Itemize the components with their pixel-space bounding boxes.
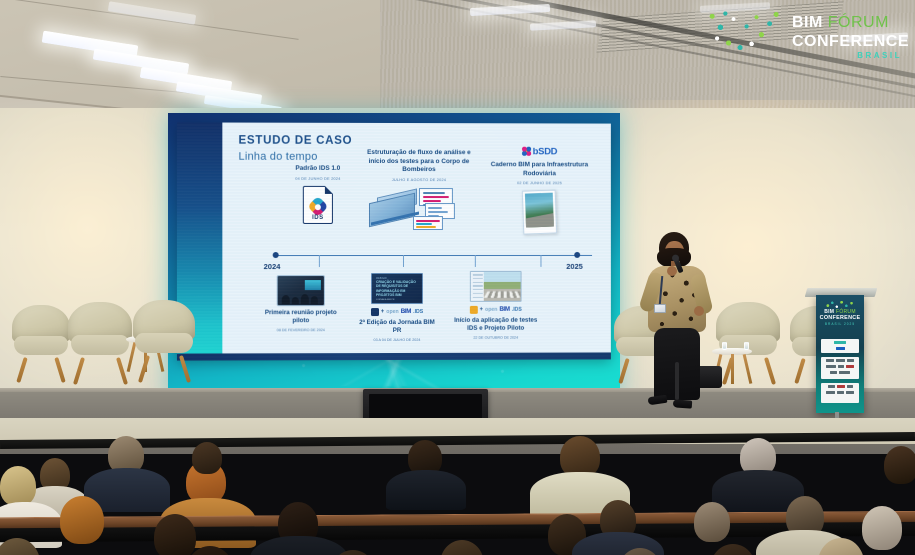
timeline-year-start: 2024 (264, 262, 281, 271)
logo-line-2: CONFERENCE (792, 33, 909, 51)
ids-openbim-combo: + openBIM.IDS (449, 305, 543, 314)
milestone-label: Padrão IDS 1.0 (275, 165, 361, 174)
sponsor-block-primary (821, 339, 859, 353)
logo-line-3: BRASIL (857, 51, 902, 60)
meeting-screen (305, 280, 321, 290)
podium-brand-line3: BRASIL 2025 (816, 322, 864, 326)
ids-label: IDS (304, 215, 332, 221)
speaker-hand-mic (667, 266, 677, 276)
chair-seat (71, 335, 130, 355)
openbim-word-light: open (485, 306, 497, 312)
sponsor-row (821, 345, 859, 351)
audience-area (0, 418, 915, 555)
podium-brand-block: BIM FÓRUM CONFERENCE BRASIL 2025 (816, 309, 864, 326)
bim-forum-conference-logo: BIM FÓRUM CONFERENCE BRASIL (700, 6, 910, 58)
milestone-above-1: Padrão IDS 1.0 04 DE JUNHO DE 2024 IDS (275, 165, 361, 224)
slide-bottom-bar (177, 352, 611, 360)
deck-cover-card: WEBINAR CRIAÇÃO E VALIDAÇÃO DE REQUISITO… (371, 273, 423, 304)
audience-head (0, 466, 36, 506)
bsdd-wordmark: bSDD (533, 146, 557, 157)
podium-brand-line2: CONFERENCE (816, 315, 864, 321)
bsdd-logo: bSDD (488, 141, 591, 159)
milestone-date: 22 DE OUTUBRO DE 2024 (449, 335, 543, 339)
sponsor-row (821, 389, 859, 395)
attendee-silhouette (282, 295, 290, 304)
attendee-silhouette (301, 294, 309, 304)
conference-photo-scene: ESTUDO DE CASO Linha do tempo Padrão IDS… (0, 0, 915, 555)
openbim-word-bold: BIM (401, 308, 411, 315)
road-photo-image (525, 193, 554, 228)
plus-icon: + (381, 309, 385, 315)
report-card-3 (413, 216, 443, 230)
road-render-card (470, 271, 522, 302)
ids-openbim-combo: + openBIM.IDS (357, 307, 437, 316)
ids-badge-icon (470, 305, 478, 313)
name-badge (654, 304, 666, 313)
timeline-tick (319, 255, 320, 267)
milestone-below-2: WEBINAR CRIAÇÃO E VALIDAÇÃO DE REQUISITO… (357, 273, 437, 342)
milestone-above-2: Estruturação de fluxo de análise e iníci… (363, 149, 475, 234)
attendee-silhouette (292, 297, 299, 304)
deck-footer: JORNADA BIM PR (376, 299, 418, 301)
deck-title: CRIAÇÃO E VALIDAÇÃO DE REQUISITOS DE INF… (376, 280, 418, 297)
speaker-shoe (648, 395, 668, 406)
render-sidebar (471, 272, 484, 301)
road-photo-card (522, 190, 557, 235)
ids-file-icon: IDS (303, 186, 333, 224)
slide-subtitle: Linha do tempo (238, 151, 317, 163)
timeline-start-dot (273, 252, 279, 258)
audience-head (192, 442, 222, 474)
audience-shoulders (386, 470, 466, 510)
audience-head (60, 496, 104, 544)
bsdd-mark-icon (522, 146, 532, 156)
table-leg (731, 354, 734, 384)
milestone-date: 03 A 04 DE JULHO DE 2024 (357, 338, 437, 342)
milestone-label: Estruturação de fluxo de análise e iníci… (363, 149, 475, 175)
stage-armchair (133, 300, 195, 366)
audience-head (694, 502, 730, 542)
chair-seat (135, 333, 192, 353)
speaker-hand-free (694, 306, 704, 316)
stage-armchair (68, 302, 132, 368)
timeline-tick (475, 255, 476, 267)
logo-line-1: BIM FÓRUM (792, 14, 889, 32)
timeline-year-end: 2025 (566, 262, 583, 271)
milestone-label: 2ª Edição da Jornada BIM PR (357, 319, 437, 336)
sponsor-row (821, 369, 859, 375)
podium-lectern: BIM FÓRUM CONFERENCE BRASIL 2025 (816, 295, 864, 413)
timeline-end-dot (574, 252, 580, 258)
timeline-tick (403, 255, 404, 267)
timeline-tick (540, 255, 541, 267)
ids-logo-mark (307, 195, 328, 216)
slide-title: ESTUDO DE CASO (238, 135, 352, 147)
openbim-word-light: open (386, 308, 398, 314)
milestone-date: 04 DE JUNHO DE 2024 (275, 175, 361, 180)
milestone-date: 02 DE JUNHO DE 2025 (488, 180, 591, 185)
milestone-date: JULHO E AGOSTO DE 2024 (363, 177, 475, 182)
timeline-axis (275, 255, 592, 256)
bim-forum-dots-mark-icon (704, 8, 786, 54)
milestone-label: Caderno BIM para Infraestrutura Rodoviár… (488, 161, 591, 178)
audience-head (154, 514, 196, 555)
sponsor-block-secondary (821, 357, 859, 379)
milestone-below-1: Primeira reunião projeto piloto 08 DE FE… (261, 275, 341, 332)
render-viewport (484, 272, 521, 301)
milestone-label: Primeira reunião projeto piloto (261, 309, 341, 326)
audience-head (710, 544, 756, 555)
water-glass (744, 342, 749, 350)
photo-caption (526, 228, 554, 233)
milestone-date: 08 DE FEVEREIRO DE 2024 (261, 328, 341, 332)
milestone-label: Início da aplicação de testes IDS e Proj… (449, 317, 543, 334)
openbim-word-tail: .IDS (512, 306, 522, 312)
audience-head (862, 506, 902, 550)
milestone-above-3: bSDD Caderno BIM para Infraestrutura Rod… (488, 141, 591, 234)
openbim-word-bold: BIM (499, 306, 509, 313)
stage-armchair (12, 305, 70, 367)
presentation-slide: ESTUDO DE CASO Linha do tempo Padrão IDS… (177, 122, 611, 360)
openbim-word-tail: .IDS (413, 308, 423, 314)
meeting-photo (277, 275, 325, 306)
table-leg (743, 354, 752, 384)
milestone-below-3: + openBIM.IDS Início da aplicação de tes… (449, 271, 543, 340)
sponsor-block-tertiary (821, 383, 859, 403)
ids-badge-icon (371, 308, 379, 316)
speaker-presenter (630, 232, 726, 414)
plus-icon: + (480, 306, 484, 312)
attendee-silhouette (311, 296, 318, 304)
speaker-trousers (654, 328, 700, 400)
audience-head (884, 446, 915, 484)
speaker-shoe (673, 399, 693, 408)
audience-head (440, 540, 484, 555)
slide-content: ESTUDO DE CASO Linha do tempo Padrão IDS… (222, 123, 611, 354)
chair-seat (14, 336, 67, 355)
